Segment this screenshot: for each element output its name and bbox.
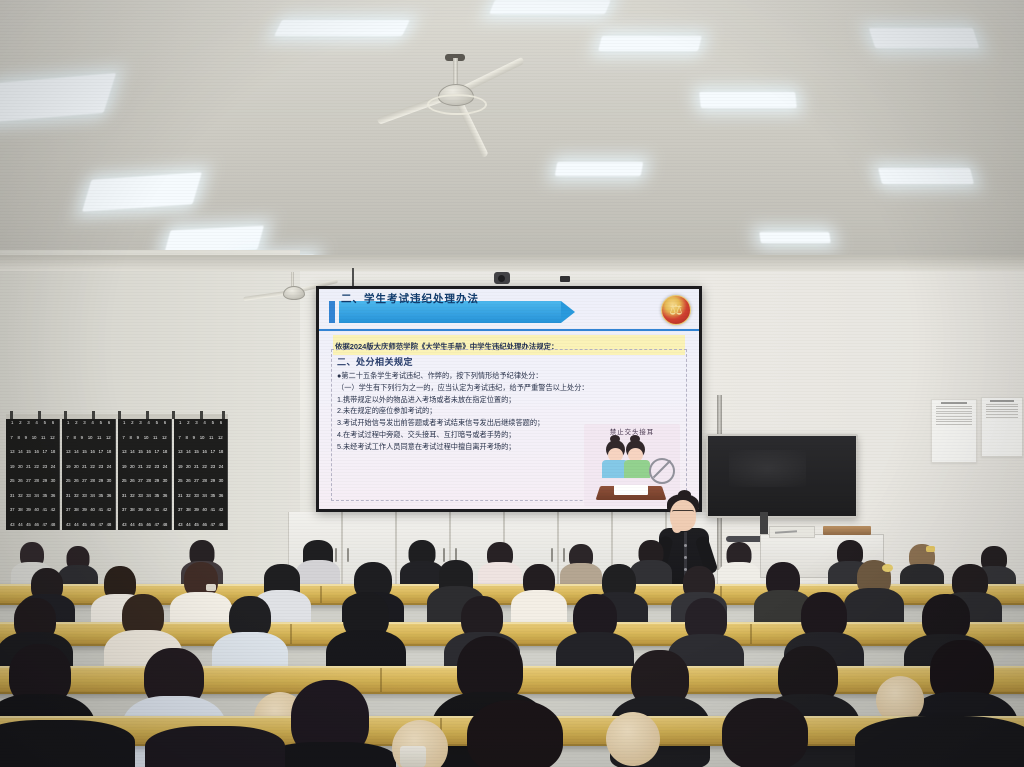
pocket-number: 45 [138, 523, 142, 527]
ceiling-light-panel [555, 162, 643, 176]
pocket-number: 42 [107, 508, 111, 512]
pocket-number: 46 [90, 523, 94, 527]
pocket-number-row: 434445464748 [120, 523, 169, 527]
pocket-number: 23 [42, 465, 46, 469]
pocket-number: 47 [42, 523, 46, 527]
student-head [722, 698, 808, 767]
pocket-number: 28 [90, 479, 94, 483]
pocket-number: 18 [219, 450, 223, 454]
pocket-number: 43 [178, 523, 182, 527]
notice-text-line [936, 411, 972, 412]
student [860, 716, 1024, 767]
pocket-number: 33 [138, 494, 142, 498]
pocket-number: 38 [74, 508, 78, 512]
pocket-number: 29 [42, 479, 46, 483]
slide-body-box: 二、处分相关规定 ●第二十五条学生考试违纪、作弊的，按下列情形给予纪律处分： （… [331, 349, 687, 501]
pocket-number: 1 [123, 421, 125, 425]
pocket-number: 5 [44, 421, 46, 425]
pocket-number: 10 [88, 436, 92, 440]
pocket-number: 6 [164, 421, 166, 425]
pocket-number: 26 [186, 479, 190, 483]
pocket-number: 5 [100, 421, 102, 425]
pocket-number: 12 [162, 436, 166, 440]
pocket-number: 1 [67, 421, 69, 425]
pocket-number: 45 [82, 523, 86, 527]
pocket-number: 27 [26, 479, 30, 483]
slide-title: 二、学生考试违纪处理办法 [341, 291, 479, 306]
pocket-number: 42 [219, 508, 223, 512]
pocket-number: 38 [186, 508, 190, 512]
pocket-number-row: 789101112 [120, 436, 169, 440]
pocket-number: 9 [25, 436, 27, 440]
hair-bun-left [610, 435, 620, 443]
pocket-number: 22 [90, 465, 94, 469]
pocket-number-row: 192021222324 [64, 465, 113, 469]
pocket-number: 29 [154, 479, 158, 483]
ceiling-light-panel [878, 168, 974, 184]
fur-hood-trim [606, 712, 660, 766]
pocket-number-row: 789101112 [64, 436, 113, 440]
pocket-number: 36 [163, 494, 167, 498]
pocket-number: 39 [194, 508, 198, 512]
pocket-number: 13 [10, 450, 14, 454]
pocket-number: 22 [202, 465, 206, 469]
pocket-number: 19 [66, 465, 70, 469]
pocket-number: 32 [186, 494, 190, 498]
student [150, 726, 280, 767]
pocket-number: 40 [202, 508, 206, 512]
slide-list-item: 1.携带规定以外的物品进入考场或者未放在指定位置的； [337, 395, 681, 404]
pocket-number: 6 [108, 421, 110, 425]
pocket-number: 46 [146, 523, 150, 527]
student [0, 720, 130, 767]
title-accent-tick [329, 301, 335, 323]
desk-seam [320, 586, 322, 603]
pocket-number: 5 [212, 421, 214, 425]
notice-heading-line [990, 400, 1014, 402]
pocket-number: 17 [98, 450, 102, 454]
pocket-number-row: 789101112 [176, 436, 225, 440]
pocket-number-row: 131415161718 [64, 450, 113, 454]
eyeglasses-icon [672, 510, 694, 516]
pocket-number: 37 [10, 508, 14, 512]
presentation-slide: 二、学生考试违纪处理办法 ⚖ 依据2024版大庆师范学院《大学生手册》中学生违纪… [319, 289, 699, 509]
pocket-number-row: 252627282930 [8, 479, 57, 483]
pocket-number: 12 [218, 436, 222, 440]
pocket-number: 47 [154, 523, 158, 527]
pocket-number: 29 [98, 479, 102, 483]
pocket-number: 13 [122, 450, 126, 454]
pocket-number-row: 313233343536 [64, 494, 113, 498]
pocket-number: 5 [156, 421, 158, 425]
pocket-number: 36 [51, 494, 55, 498]
pocket-number: 40 [146, 508, 150, 512]
pocket-number: 35 [154, 494, 158, 498]
pocket-number-row: 373839404142 [64, 508, 113, 512]
pocket-number: 21 [82, 465, 86, 469]
pocket-number: 37 [122, 508, 126, 512]
pocket-number: 26 [130, 479, 134, 483]
pocket-number: 2 [187, 421, 189, 425]
pocket-number: 21 [138, 465, 142, 469]
pocket-number: 22 [146, 465, 150, 469]
pocket-number: 33 [26, 494, 30, 498]
notice-text-line [986, 409, 1018, 410]
pocket-number: 38 [18, 508, 22, 512]
wall-soffit [0, 255, 1024, 271]
pocket-number: 40 [90, 508, 94, 512]
pocket-number: 19 [178, 465, 182, 469]
illustration-paper [614, 485, 648, 495]
pocket-number: 28 [146, 479, 150, 483]
prohibition-sign-icon [649, 458, 675, 484]
pocket-number: 6 [52, 421, 54, 425]
wall-notice-right [981, 397, 1023, 457]
pocket-number-row: 123456 [64, 421, 113, 425]
pocket-number: 10 [144, 436, 148, 440]
pocket-number: 48 [107, 523, 111, 527]
pocket-number: 11 [97, 436, 101, 440]
pocket-number: 20 [18, 465, 22, 469]
pocket-number: 20 [130, 465, 134, 469]
student [216, 596, 284, 672]
pocket-panel: 1234567891011121314151617181920212223242… [6, 418, 60, 530]
screen-glare [729, 450, 806, 487]
pocket-number: 39 [138, 508, 142, 512]
pocket-number: 26 [18, 479, 22, 483]
student-head [467, 700, 563, 767]
fan-hub [283, 286, 305, 300]
pocket-number: 32 [18, 494, 22, 498]
pocket-number: 26 [74, 479, 78, 483]
desk-seam [290, 624, 292, 644]
pocket-number-row: 373839404142 [8, 508, 57, 512]
pocket-number-row: 313233343536 [120, 494, 169, 498]
notice-text-line [936, 416, 972, 417]
presenter-hair-bun [678, 490, 691, 499]
pocket-number: 35 [42, 494, 46, 498]
pocket-panel: 1234567891011121314151617181920212223242… [118, 418, 172, 530]
pocket-number: 18 [163, 450, 167, 454]
pocket-number-row: 131415161718 [120, 450, 169, 454]
pocket-number: 9 [137, 436, 139, 440]
pocket-number: 46 [34, 523, 38, 527]
pocket-number: 4 [91, 421, 93, 425]
pocket-number: 44 [130, 523, 134, 527]
ceiling-light-panel [489, 0, 611, 14]
pocket-number: 41 [42, 508, 46, 512]
student [700, 698, 830, 767]
notice-text-line [936, 408, 972, 409]
pocket-number-row: 434445464748 [176, 523, 225, 527]
pocket-number-row: 434445464748 [64, 523, 113, 527]
pocket-number: 3 [27, 421, 29, 425]
projector-cable [352, 268, 354, 288]
audience-area [0, 540, 1024, 767]
pocket-number: 32 [74, 494, 78, 498]
pocket-number: 7 [178, 436, 180, 440]
pocket-number: 42 [51, 508, 55, 512]
pocket-number-row: 313233343536 [176, 494, 225, 498]
pocket-number-row: 434445464748 [8, 523, 57, 527]
pocket-number: 47 [98, 523, 102, 527]
notice-heading-line [941, 402, 967, 404]
pocket-number: 16 [90, 450, 94, 454]
pocket-number: 44 [18, 523, 22, 527]
desk-seam [750, 624, 752, 644]
pocket-number: 17 [210, 450, 214, 454]
pocket-number: 11 [209, 436, 213, 440]
pocket-number: 9 [81, 436, 83, 440]
pocket-number: 1 [11, 421, 13, 425]
pocket-number: 27 [82, 479, 86, 483]
slide-section-heading: 二、处分相关规定 [337, 355, 681, 368]
pocket-number: 38 [130, 508, 134, 512]
pocket-number: 20 [186, 465, 190, 469]
ceiling-light-panel [869, 28, 979, 48]
pocket-number-row: 313233343536 [8, 494, 57, 498]
notice-text-line [986, 414, 1018, 415]
pocket-number: 7 [10, 436, 12, 440]
pocket-number: 16 [146, 450, 150, 454]
slide-bullet: ●第二十五条学生考试违纪、作弊的，按下列情形给予纪律处分： [337, 371, 681, 380]
projection-screen: 二、学生考试违纪处理办法 ⚖ 依据2024版大庆师范学院《大学生手册》中学生违纪… [316, 286, 702, 512]
notice-text-line [936, 413, 972, 414]
pocket-number: 12 [50, 436, 54, 440]
pocket-number: 42 [163, 508, 167, 512]
pocket-board-rail [6, 414, 228, 419]
pocket-number: 27 [194, 479, 198, 483]
pocket-number: 19 [122, 465, 126, 469]
pocket-number: 17 [42, 450, 46, 454]
pocket-number-row: 252627282930 [120, 479, 169, 483]
wall-tv-display[interactable] [706, 434, 858, 518]
pocket-number: 23 [154, 465, 158, 469]
pocket-number: 14 [74, 450, 78, 454]
pocket-number: 14 [18, 450, 22, 454]
pocket-number-row: 252627282930 [64, 479, 113, 483]
pocket-number-row: 192021222324 [120, 465, 169, 469]
pocket-number: 15 [194, 450, 198, 454]
pocket-number: 16 [34, 450, 38, 454]
notice-text-line [936, 424, 972, 425]
pocket-number: 36 [107, 494, 111, 498]
pocket-number: 34 [90, 494, 94, 498]
pocket-number: 32 [130, 494, 134, 498]
pocket-number: 21 [26, 465, 30, 469]
ceiling-light-panel [274, 20, 410, 36]
pocket-number: 8 [186, 436, 188, 440]
pocket-number: 8 [74, 436, 76, 440]
pocket-number: 31 [122, 494, 126, 498]
pocket-number: 15 [26, 450, 30, 454]
pocket-number: 11 [153, 436, 157, 440]
pocket-number-row: 131415161718 [8, 450, 57, 454]
slide-list-item: 2.未在规定的座位参加考试的； [337, 406, 681, 415]
pocket-number: 15 [138, 450, 142, 454]
pocket-number: 20 [74, 465, 78, 469]
wall-notice-left [931, 399, 977, 463]
student [330, 592, 402, 672]
pocket-number: 28 [34, 479, 38, 483]
pocket-number: 24 [219, 465, 223, 469]
pocket-number: 12 [106, 436, 110, 440]
pocket-number: 14 [130, 450, 134, 454]
pocket-panel: 1234567891011121314151617181920212223242… [174, 418, 228, 530]
pocket-number: 2 [131, 421, 133, 425]
podium-book [823, 526, 871, 535]
pocket-number: 19 [10, 465, 14, 469]
pocket-number: 29 [210, 479, 214, 483]
pocket-number: 24 [107, 465, 111, 469]
pocket-number: 33 [82, 494, 86, 498]
pocket-number: 25 [178, 479, 182, 483]
scales-of-justice-emblem: ⚖ [661, 295, 691, 325]
pocket-number: 41 [210, 508, 214, 512]
pocket-number: 30 [219, 479, 223, 483]
pocket-number: 17 [154, 450, 158, 454]
hair-bun-right [630, 435, 640, 443]
pocket-number: 30 [163, 479, 167, 483]
pocket-number: 30 [51, 479, 55, 483]
pocket-number: 23 [210, 465, 214, 469]
student [440, 700, 590, 767]
pocket-number: 13 [66, 450, 70, 454]
pocket-number: 47 [210, 523, 214, 527]
pocket-number-row: 192021222324 [176, 465, 225, 469]
pocket-number: 33 [194, 494, 198, 498]
hair-clip [926, 546, 935, 552]
notice-text-line [936, 406, 972, 407]
pocket-number: 46 [202, 523, 206, 527]
fan-ring [427, 94, 487, 115]
pocket-number-row: 373839404142 [120, 508, 169, 512]
pocket-number: 14 [186, 450, 190, 454]
student-body [145, 726, 285, 767]
pocket-number-row: 123456 [176, 421, 225, 425]
pocket-number: 21 [194, 465, 198, 469]
pocket-number: 41 [98, 508, 102, 512]
pocket-number: 15 [82, 450, 86, 454]
pocket-number: 41 [154, 508, 158, 512]
pocket-number: 6 [220, 421, 222, 425]
pocket-number: 3 [83, 421, 85, 425]
pocket-number: 22 [34, 465, 38, 469]
ceiling-fan [400, 58, 510, 118]
pocket-number-row: 131415161718 [176, 450, 225, 454]
notice-text-line [936, 419, 972, 420]
pocket-number: 24 [163, 465, 167, 469]
pocket-number: 7 [122, 436, 124, 440]
slide-divider [319, 329, 699, 331]
pocket-number: 28 [202, 479, 206, 483]
pocket-number: 8 [130, 436, 132, 440]
student-body [855, 716, 1024, 767]
pocket-number: 16 [202, 450, 206, 454]
pocket-number: 40 [34, 508, 38, 512]
pocket-number: 27 [138, 479, 142, 483]
pocket-number: 34 [202, 494, 206, 498]
notice-text-line [986, 411, 1018, 412]
student [270, 680, 390, 767]
pocket-number-row: 789101112 [8, 436, 57, 440]
pocket-number-row: 192021222324 [8, 465, 57, 469]
notice-text-line [936, 421, 972, 422]
student-body-right [624, 460, 650, 478]
pocket-number: 34 [146, 494, 150, 498]
pocket-number: 1 [179, 421, 181, 425]
pocket-number: 45 [26, 523, 30, 527]
pocket-number: 48 [219, 523, 223, 527]
ceiling-light-panel [699, 92, 797, 108]
pocket-number: 44 [186, 523, 190, 527]
pocket-number: 7 [66, 436, 68, 440]
pocket-number: 31 [10, 494, 14, 498]
pocket-number: 36 [219, 494, 223, 498]
pocket-number: 39 [82, 508, 86, 512]
pocket-number: 9 [193, 436, 195, 440]
pocket-number: 43 [10, 523, 14, 527]
wall-sensor-icon [560, 276, 570, 282]
pocket-number: 34 [34, 494, 38, 498]
pocket-number: 4 [147, 421, 149, 425]
pocket-number: 3 [195, 421, 197, 425]
pocket-number: 48 [51, 523, 55, 527]
pocket-number: 48 [163, 523, 167, 527]
pocket-number: 43 [122, 523, 126, 527]
pocket-number: 10 [200, 436, 204, 440]
pocket-number: 25 [66, 479, 70, 483]
pocket-number: 23 [98, 465, 102, 469]
ceiling-light-panel [759, 232, 831, 243]
pocket-number: 31 [178, 494, 182, 498]
student-body [0, 720, 135, 767]
pocket-number: 25 [10, 479, 14, 483]
pocket-number: 2 [19, 421, 21, 425]
pocket-number-row: 373839404142 [176, 508, 225, 512]
pocket-number: 11 [41, 436, 45, 440]
pocket-number: 35 [98, 494, 102, 498]
notice-text-line [986, 404, 1018, 405]
pocket-number: 18 [51, 450, 55, 454]
pocket-number: 45 [194, 523, 198, 527]
pocket-number-row: 252627282930 [176, 479, 225, 483]
pocket-number: 4 [203, 421, 205, 425]
pocket-number: 44 [74, 523, 78, 527]
pocket-panel: 1234567891011121314151617181920212223242… [62, 418, 116, 530]
pocket-number-row: 123456 [120, 421, 169, 425]
pocket-number: 10 [32, 436, 36, 440]
pocket-number: 2 [75, 421, 77, 425]
fan-rod [453, 58, 458, 86]
pocket-number: 35 [210, 494, 214, 498]
classroom-camera-icon [494, 272, 510, 284]
pocket-number: 25 [122, 479, 126, 483]
pocket-number: 18 [107, 450, 111, 454]
pocket-number: 37 [66, 508, 70, 512]
scales-icon: ⚖ [669, 303, 682, 318]
hair-clip [206, 584, 216, 591]
pocket-number-row: 123456 [8, 421, 57, 425]
ceiling-light-panel [598, 36, 702, 51]
pocket-number: 37 [178, 508, 182, 512]
notice-text-line [986, 406, 1018, 407]
pocket-number: 31 [66, 494, 70, 498]
pocket-number: 8 [18, 436, 20, 440]
pocket-number: 39 [26, 508, 30, 512]
slide-bullet: （一）学生有下列行为之一的，应当认定为考试违纪，给予严重警告以上处分： [337, 383, 681, 392]
classroom-photo-scene: 1234567891011121314151617181920212223242… [0, 0, 1024, 767]
